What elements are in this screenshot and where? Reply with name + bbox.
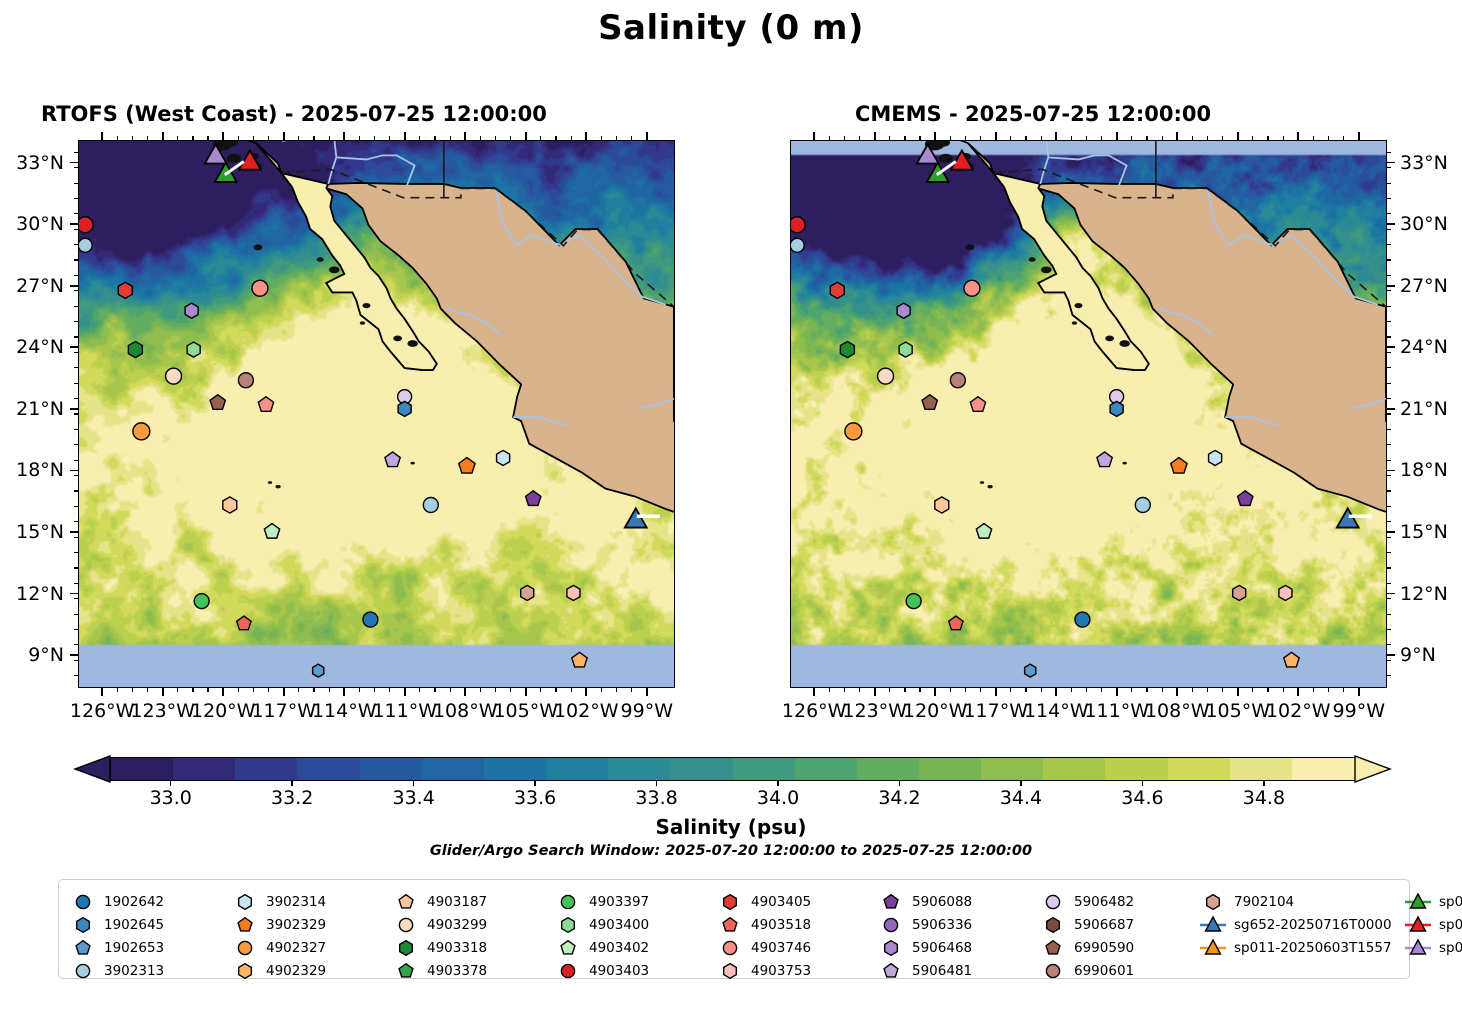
legend-item[interactable]: sp036-20240905T1719 (1404, 892, 1462, 912)
legend-item-label: 5906088 (912, 894, 972, 910)
y-tick (70, 408, 78, 410)
argo-float-marker[interactable] (526, 491, 541, 506)
legend-item[interactable]: sp011-20250603T1557 (1199, 938, 1392, 958)
glider-marker-icon (1404, 915, 1432, 935)
y-tick-minor (1387, 152, 1391, 153)
argo-float-marker[interactable] (950, 373, 965, 388)
float-marker-icon (231, 961, 259, 981)
x-tick-minor (132, 688, 133, 692)
y-tick-minor (1387, 167, 1391, 168)
y-tick-minor (74, 290, 78, 291)
y-tick-minor (1387, 567, 1391, 568)
legend-item[interactable]: 5906088 (877, 892, 972, 912)
argo-float-marker[interactable] (238, 373, 253, 388)
argo-float-marker[interactable] (964, 280, 980, 296)
x-tick-label: 117°W (251, 700, 316, 722)
float-marker-icon (554, 961, 582, 981)
colorbar-segment (608, 758, 672, 780)
colorbar-tick-label: 33.8 (635, 787, 677, 809)
x-tick-label: 105°W (1205, 700, 1270, 722)
x-tick (222, 688, 224, 696)
argo-float-marker[interactable] (845, 423, 862, 440)
x-tick-minor (238, 688, 239, 692)
argo-float-marker[interactable] (118, 282, 132, 298)
y-tick-minor (1387, 460, 1391, 461)
colorbar-body (110, 757, 1355, 781)
argo-float-marker[interactable] (185, 303, 198, 318)
y-tick-minor (74, 367, 78, 368)
y-tick-minor (1387, 259, 1391, 260)
x-tick (1176, 688, 1178, 696)
argo-float-marker[interactable] (210, 395, 225, 410)
y-tick-minor (74, 552, 78, 553)
y-tick-minor (1387, 537, 1391, 538)
argo-float-marker[interactable] (1097, 452, 1112, 467)
argo-float-marker[interactable] (897, 303, 910, 318)
colorbar-tick (1020, 781, 1021, 786)
argo-float-marker[interactable] (223, 497, 237, 513)
y-tick-label: 27°N (0, 275, 64, 297)
x-tick-minor (1162, 136, 1163, 140)
x-tick-minor (177, 136, 178, 140)
x-tick-label: 102°W (1266, 700, 1331, 722)
x-tick-minor (1101, 688, 1102, 692)
legend-item[interactable]: sp058-20250625T1709 (1404, 938, 1462, 958)
legend-item[interactable]: 6990601 (1039, 961, 1134, 981)
legend-item[interactable]: 4903518 (716, 915, 811, 935)
legend-item[interactable]: 4903397 (554, 892, 649, 912)
argo-float-marker[interactable] (166, 368, 182, 384)
legend-item[interactable]: 4903402 (554, 938, 649, 958)
y-tick-minor (74, 460, 78, 461)
argo-float-marker[interactable] (459, 458, 475, 474)
island (1029, 257, 1036, 262)
y-tick-label: 24°N (0, 336, 64, 358)
argo-float-marker[interactable] (1171, 458, 1187, 474)
x-tick-minor (1025, 688, 1026, 692)
argo-float-marker[interactable] (252, 280, 268, 296)
argo-float-marker[interactable] (935, 497, 949, 513)
island (393, 335, 402, 341)
colorbar-tick (656, 781, 657, 786)
x-tick-minor (1041, 688, 1042, 692)
island (410, 462, 414, 465)
y-tick-minor (1387, 429, 1391, 430)
y-tick-label: 12°N (1400, 583, 1448, 605)
landmass (791, 140, 1387, 532)
x-tick-minor (616, 688, 617, 692)
x-tick-minor (313, 688, 314, 692)
legend-item-label: 5906336 (912, 917, 972, 933)
x-tick (585, 132, 587, 140)
legend-item[interactable]: 4903403 (554, 961, 649, 981)
legend-item-label: 7902104 (1234, 894, 1294, 910)
x-tick (101, 132, 103, 140)
y-tick-minor (1387, 383, 1391, 384)
legend-item[interactable]: 4902329 (231, 961, 326, 981)
argo-float-marker[interactable] (497, 450, 510, 465)
x-tick-minor (510, 688, 511, 692)
argo-float-marker[interactable] (906, 594, 921, 609)
colorbar-tick-label: 33.4 (393, 787, 435, 809)
legend-item-label: 1902645 (104, 917, 164, 933)
y-tick-label: 9°N (0, 644, 64, 666)
colorbar-segment (670, 758, 734, 780)
legend-item[interactable]: 4902327 (231, 938, 326, 958)
x-tick (343, 688, 345, 696)
colorbar-tick (534, 781, 535, 786)
colorbar-tick-label: 34.2 (878, 787, 920, 809)
x-tick-label: 99°W (1333, 700, 1385, 722)
float-marker-icon (1039, 892, 1067, 912)
island (227, 154, 241, 163)
x-tick-minor (1283, 688, 1284, 692)
x-tick-minor (298, 688, 299, 692)
legend-item[interactable]: 1902642 (69, 892, 164, 912)
legend-item-label: 4903299 (427, 917, 487, 933)
legend-item-label: 4903402 (589, 940, 649, 956)
y-tick (1387, 223, 1395, 225)
argo-float-marker[interactable] (1238, 491, 1253, 506)
colorbar-segment (1168, 758, 1232, 780)
x-tick-minor (419, 688, 420, 692)
x-tick-minor (1207, 688, 1208, 692)
colorbar-segment (1105, 758, 1169, 780)
x-tick-minor (359, 688, 360, 692)
legend-item[interactable]: sp040-20250611T1659 (1404, 915, 1462, 935)
argo-float-marker[interactable] (78, 217, 93, 233)
legend-item[interactable]: 5906468 (877, 938, 972, 958)
argo-float-marker[interactable] (922, 395, 937, 410)
x-tick (1358, 132, 1360, 140)
y-tick-label: 18°N (0, 459, 64, 481)
y-tick-minor (1387, 552, 1391, 553)
argo-float-marker[interactable] (398, 401, 411, 416)
float-marker-icon (1039, 961, 1067, 981)
legend-item[interactable]: 1902645 (69, 915, 164, 935)
x-tick-minor (980, 688, 981, 692)
x-tick-minor (1343, 136, 1344, 140)
legend-item[interactable]: 4903378 (392, 961, 487, 981)
legend-item[interactable]: 5906481 (877, 961, 972, 981)
island (329, 266, 340, 273)
x-tick-label: 111°W (1084, 700, 1149, 722)
legend-item[interactable]: 1902653 (69, 938, 164, 958)
float-marker-icon (877, 892, 905, 912)
x-tick (934, 132, 936, 140)
island (1074, 303, 1082, 308)
legend-item[interactable]: 4903318 (392, 938, 487, 958)
island (980, 481, 984, 484)
island (1072, 321, 1077, 324)
argo-float-marker[interactable] (1110, 401, 1123, 416)
x-tick-minor (980, 136, 981, 140)
x-tick-minor (1328, 688, 1329, 692)
x-tick (995, 132, 997, 140)
legend-box[interactable]: 1902642190264519026533902313390231439023… (58, 879, 1410, 979)
argo-float-marker[interactable] (1279, 585, 1292, 600)
x-tick-minor (510, 136, 511, 140)
x-tick (404, 132, 406, 140)
x-tick-minor (1086, 688, 1087, 692)
y-tick-minor (1387, 367, 1391, 368)
x-tick-minor (253, 136, 254, 140)
colorbar-segment (360, 758, 424, 780)
island (966, 244, 975, 250)
x-tick-label: 117°W (963, 700, 1028, 722)
argo-float-marker[interactable] (194, 594, 209, 609)
x-tick-minor (132, 136, 133, 140)
x-tick-minor (540, 136, 541, 140)
y-tick-minor (74, 259, 78, 260)
legend-item-label: sp036-20240905T1719 (1439, 894, 1462, 910)
legend-item[interactable]: 6990590 (1039, 938, 1134, 958)
argo-float-marker[interactable] (1075, 612, 1090, 627)
x-tick-label: 114°W (312, 700, 377, 722)
argo-float-marker[interactable] (572, 652, 587, 667)
x-tick-label: 99°W (621, 700, 673, 722)
y-tick-label: 12°N (0, 583, 64, 605)
argo-float-marker[interactable] (1233, 585, 1246, 600)
x-tick-minor (601, 688, 602, 692)
x-tick-minor (950, 136, 951, 140)
x-tick-minor (571, 136, 572, 140)
colorbar-segment (297, 758, 361, 780)
x-tick-minor (631, 688, 632, 692)
y-tick-minor (74, 167, 78, 168)
glider-marker[interactable] (951, 150, 973, 169)
argo-float-marker[interactable] (423, 497, 438, 512)
float-marker-icon (554, 892, 582, 912)
y-tick-minor (74, 321, 78, 322)
y-tick-label: 15°N (0, 521, 64, 543)
y-tick-minor (74, 383, 78, 384)
y-tick (70, 223, 78, 225)
argo-float-marker[interactable] (1025, 664, 1036, 677)
x-tick-minor (1041, 136, 1042, 140)
x-tick-minor (192, 136, 193, 140)
glider-marker-icon (1199, 915, 1227, 935)
y-tick-label: 9°N (1400, 644, 1436, 666)
x-tick-minor (253, 688, 254, 692)
panel-title-rtofs: RTOFS (West Coast) - 2025-07-25 12:00:00 (41, 102, 547, 126)
legend-item[interactable]: 3902329 (231, 915, 326, 935)
argo-float-marker[interactable] (521, 585, 534, 600)
x-tick-minor (450, 136, 451, 140)
x-tick-minor (889, 136, 890, 140)
argo-float-marker[interactable] (258, 397, 273, 412)
argo-float-marker[interactable] (878, 368, 894, 384)
colorbar (76, 757, 1389, 781)
x-tick-minor (1071, 136, 1072, 140)
y-tick-label: 30°N (1400, 213, 1448, 235)
float-marker-icon (69, 961, 97, 981)
x-tick-minor (631, 136, 632, 140)
y-tick-label: 27°N (1400, 275, 1448, 297)
argo-float-marker[interactable] (1135, 497, 1150, 512)
x-tick-minor (207, 136, 208, 140)
y-tick-label: 33°N (1400, 152, 1448, 174)
argo-float-marker[interactable] (830, 282, 844, 298)
y-tick-minor (74, 490, 78, 491)
argo-float-marker[interactable] (1284, 652, 1299, 667)
colorbar-segment (733, 758, 797, 780)
y-tick-minor (1387, 275, 1391, 276)
x-tick (464, 688, 466, 696)
glider-marker-icon (1404, 892, 1432, 912)
x-tick (874, 688, 876, 696)
x-tick-minor (268, 688, 269, 692)
legend-item-label: 3902329 (266, 917, 326, 933)
island (407, 340, 418, 347)
x-tick (1237, 132, 1239, 140)
argo-float-marker[interactable] (363, 612, 378, 627)
x-tick-minor (1146, 136, 1147, 140)
legend-item[interactable]: 4903187 (392, 892, 487, 912)
x-tick-minor (919, 136, 920, 140)
colorbar-extend-left (75, 756, 111, 782)
x-tick-minor (1222, 688, 1223, 692)
x-tick-minor (147, 136, 148, 140)
legend-item[interactable]: 7902104 (1199, 892, 1294, 912)
argo-float-marker[interactable] (899, 342, 912, 357)
y-tick-minor (74, 352, 78, 353)
island (360, 321, 365, 324)
search-window-note: Glider/Argo Search Window: 2025-07-20 12… (0, 843, 1462, 859)
legend-item[interactable]: 4903299 (392, 915, 487, 935)
figure-title: Salinity (0 m) (0, 8, 1462, 48)
argo-float-marker[interactable] (78, 238, 92, 252)
y-tick-minor (74, 598, 78, 599)
x-tick-minor (1086, 136, 1087, 140)
x-tick (404, 688, 406, 696)
y-tick-minor (1387, 660, 1391, 661)
x-tick (874, 132, 876, 140)
argo-float-marker[interactable] (237, 616, 251, 630)
argo-float-marker[interactable] (949, 616, 963, 630)
float-marker-icon (231, 915, 259, 935)
argo-float-marker[interactable] (970, 397, 985, 412)
y-tick-minor (74, 629, 78, 630)
y-tick (70, 346, 78, 348)
y-tick-minor (1387, 506, 1391, 507)
y-tick-minor (1387, 475, 1391, 476)
colorbar-segment (546, 758, 610, 780)
argo-float-marker[interactable] (128, 342, 142, 358)
argo-float-marker[interactable] (790, 238, 804, 252)
argo-float-marker[interactable] (567, 585, 580, 600)
argo-float-marker[interactable] (840, 342, 854, 358)
argo-float-marker[interactable] (313, 664, 324, 677)
legend-item[interactable]: 4903746 (716, 938, 811, 958)
argo-float-marker[interactable] (264, 524, 279, 539)
x-tick-label: 111°W (372, 700, 437, 722)
map-panel-rtofs[interactable] (78, 140, 675, 688)
colorbar-tick (413, 781, 414, 786)
legend-item[interactable]: 5906336 (877, 915, 972, 935)
argo-float-marker[interactable] (133, 423, 150, 440)
island (268, 481, 272, 484)
x-tick-minor (904, 136, 905, 140)
argo-float-marker[interactable] (385, 452, 400, 467)
y-tick-minor (74, 660, 78, 661)
argo-float-marker[interactable] (1209, 450, 1222, 465)
y-tick-minor (74, 336, 78, 337)
legend-item-label: 4903400 (589, 917, 649, 933)
x-tick-minor (889, 688, 890, 692)
legend-item-label: 4902329 (266, 963, 326, 979)
y-tick-minor (74, 213, 78, 214)
x-tick (1297, 132, 1299, 140)
x-tick-minor (1252, 136, 1253, 140)
legend-item-label: 6990601 (1074, 963, 1134, 979)
map-panel-cmems[interactable] (790, 140, 1387, 688)
x-tick (162, 132, 164, 140)
x-tick-label: 114°W (1024, 700, 1089, 722)
island (275, 485, 280, 488)
x-tick-minor (904, 688, 905, 692)
legend-item-label: 4903378 (427, 963, 487, 979)
x-tick-minor (829, 688, 830, 692)
y-tick (1387, 162, 1395, 164)
legend-item[interactable]: sg652-20250716T0000 (1199, 915, 1392, 935)
argo-float-marker[interactable] (976, 524, 991, 539)
y-tick (70, 654, 78, 656)
y-tick-minor (1387, 444, 1391, 445)
x-tick-minor (450, 688, 451, 692)
argo-float-marker[interactable] (790, 217, 805, 233)
x-tick-minor (1267, 688, 1268, 692)
island (1122, 462, 1126, 465)
y-tick-minor (1387, 183, 1391, 184)
y-tick (1387, 346, 1395, 348)
legend-item[interactable]: 3902314 (231, 892, 326, 912)
x-tick-minor (313, 136, 314, 140)
float-marker-icon (877, 915, 905, 935)
y-tick-label: 18°N (1400, 459, 1448, 481)
argo-float-marker[interactable] (187, 342, 200, 357)
x-tick-minor (844, 688, 845, 692)
y-tick-minor (74, 429, 78, 430)
y-tick-minor (1387, 321, 1391, 322)
glider-marker[interactable] (239, 150, 261, 169)
x-tick-label: 123°W (130, 700, 195, 722)
x-tick-minor (495, 136, 496, 140)
legend-item[interactable]: 3902313 (69, 961, 164, 981)
legend-item-label: 4903318 (427, 940, 487, 956)
float-marker-icon (554, 938, 582, 958)
x-tick-minor (1162, 688, 1163, 692)
legend-item[interactable]: 4903400 (554, 915, 649, 935)
x-tick (813, 688, 815, 696)
x-tick (222, 132, 224, 140)
x-tick (813, 132, 815, 140)
float-marker-icon (392, 892, 420, 912)
y-tick (70, 470, 78, 472)
x-tick-minor (1131, 136, 1132, 140)
legend-item[interactable]: 4903405 (716, 892, 811, 912)
legend-item-label: sp058-20250625T1709 (1439, 940, 1462, 956)
legend-item[interactable]: 5906687 (1039, 915, 1134, 935)
float-marker-icon (69, 915, 97, 935)
x-tick (1358, 688, 1360, 696)
x-tick-label: 123°W (842, 700, 907, 722)
y-tick-minor (74, 675, 78, 676)
colorbar-segment (919, 758, 983, 780)
legend-item[interactable]: 4903753 (716, 961, 811, 981)
legend-item[interactable]: 5906482 (1039, 892, 1134, 912)
x-tick-minor (1025, 136, 1026, 140)
